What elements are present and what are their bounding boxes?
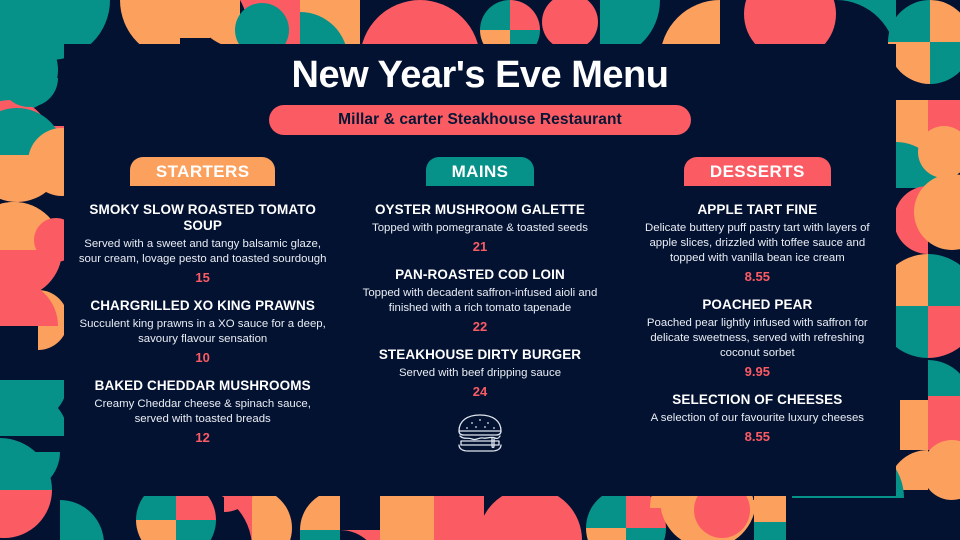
menu-content-panel: New Year's Eve Menu Millar & carter Stea… [64, 44, 896, 496]
menu-column-mains: MAINS OYSTER MUSHROOM GALETTE Topped wit… [341, 157, 618, 454]
dish-price: 24 [347, 384, 612, 399]
menu-item: OYSTER MUSHROOM GALETTE Topped with pome… [347, 202, 612, 254]
dish-price: 12 [70, 430, 335, 445]
menu-poster: New Year's Eve Menu Millar & carter Stea… [0, 0, 960, 540]
dish-name: BAKED CHEDDAR MUSHROOMS [70, 378, 335, 394]
dish-description: Delicate buttery puff pastry tart with l… [625, 221, 890, 266]
dish-name: STEAKHOUSE DIRTY BURGER [347, 347, 612, 363]
menu-columns: STARTERS SMOKY SLOW ROASTED TOMATO SOUP … [64, 157, 896, 458]
dish-description: Topped with decadent saffron-infused aio… [347, 286, 612, 316]
dish-name: APPLE TART FINE [625, 202, 890, 218]
column-heading-desserts: DESSERTS [684, 157, 831, 186]
menu-item: APPLE TART FINE Delicate buttery puff pa… [625, 202, 890, 284]
dish-name: POACHED PEAR [625, 297, 890, 313]
dish-price: 8.55 [625, 269, 890, 284]
dish-price: 22 [347, 319, 612, 334]
dish-price: 9.95 [625, 364, 890, 379]
menu-item: CHARGRILLED XO KING PRAWNS Succulent kin… [70, 298, 335, 365]
menu-item: PAN-ROASTED COD LOIN Topped with decaden… [347, 267, 612, 334]
dish-description: Served with a sweet and tangy balsamic g… [70, 237, 335, 267]
menu-column-starters: STARTERS SMOKY SLOW ROASTED TOMATO SOUP … [64, 157, 341, 458]
menu-item: SMOKY SLOW ROASTED TOMATO SOUP Served wi… [70, 202, 335, 285]
dish-description: Topped with pomegranate & toasted seeds [347, 221, 612, 236]
menu-item: STEAKHOUSE DIRTY BURGER Served with beef… [347, 347, 612, 399]
dish-description: A selection of our favourite luxury chee… [625, 411, 890, 426]
column-heading-starters: STARTERS [130, 157, 276, 186]
page-title: New Year's Eve Menu [64, 56, 896, 96]
dish-name: SELECTION OF CHEESES [625, 392, 890, 408]
menu-column-desserts: DESSERTS APPLE TART FINE Delicate butter… [619, 157, 896, 457]
dish-description: Creamy Cheddar cheese & spinach sauce, s… [70, 397, 335, 427]
dish-description: Poached pear lightly infused with saffro… [625, 316, 890, 361]
menu-item: SELECTION OF CHEESES A selection of our … [625, 392, 890, 444]
dish-name: CHARGRILLED XO KING PRAWNS [70, 298, 335, 314]
menu-item: BAKED CHEDDAR MUSHROOMS Creamy Cheddar c… [70, 378, 335, 445]
dish-name: PAN-ROASTED COD LOIN [347, 267, 612, 283]
dish-price: 8.55 [625, 429, 890, 444]
dish-name: SMOKY SLOW ROASTED TOMATO SOUP [70, 202, 335, 234]
dish-price: 10 [70, 350, 335, 365]
dish-price: 21 [347, 239, 612, 254]
dish-name: OYSTER MUSHROOM GALETTE [347, 202, 612, 218]
restaurant-name: Millar & carter Steakhouse Restaurant [338, 111, 622, 129]
column-heading-mains: MAINS [426, 157, 535, 186]
restaurant-name-banner: Millar & carter Steakhouse Restaurant [269, 105, 691, 135]
menu-header: New Year's Eve Menu Millar & carter Stea… [64, 44, 896, 135]
menu-item: POACHED PEAR Poached pear lightly infuse… [625, 297, 890, 379]
dish-description: Served with beef dripping sauce [347, 366, 612, 381]
burger-icon [452, 412, 508, 454]
dish-description: Succulent king prawns in a XO sauce for … [70, 317, 335, 347]
dish-price: 15 [70, 270, 335, 285]
